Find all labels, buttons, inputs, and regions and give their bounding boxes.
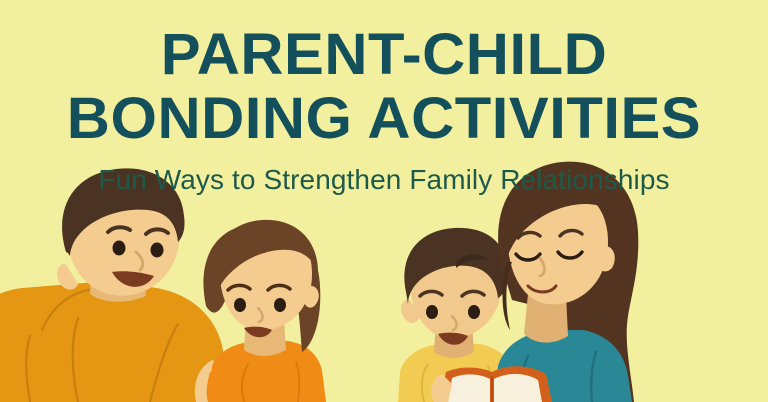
daughter-eye-right — [274, 298, 286, 312]
poster-text-block: PARENT-CHILD BONDING ACTIVITIES Fun Ways… — [0, 0, 768, 196]
son-eye-left — [426, 305, 438, 319]
poster-subtitle: Fun Ways to Strengthen Family Relationsh… — [0, 164, 768, 196]
poster-title-line-2: BONDING ACTIVITIES — [0, 90, 768, 148]
figure-father — [0, 168, 232, 402]
son-eye-right — [468, 305, 480, 319]
book-pages-left — [448, 374, 490, 402]
daughter-sleeve-left — [207, 368, 234, 402]
father-eye-right — [151, 243, 164, 258]
figure-daughter — [195, 220, 326, 402]
poster-title-line-1: PARENT-CHILD — [0, 26, 768, 84]
daughter-eye-left — [234, 298, 246, 312]
father-eye-left — [113, 241, 126, 256]
figure-mother — [494, 162, 638, 402]
poster-banner: PARENT-CHILD BONDING ACTIVITIES Fun Ways… — [0, 0, 768, 402]
